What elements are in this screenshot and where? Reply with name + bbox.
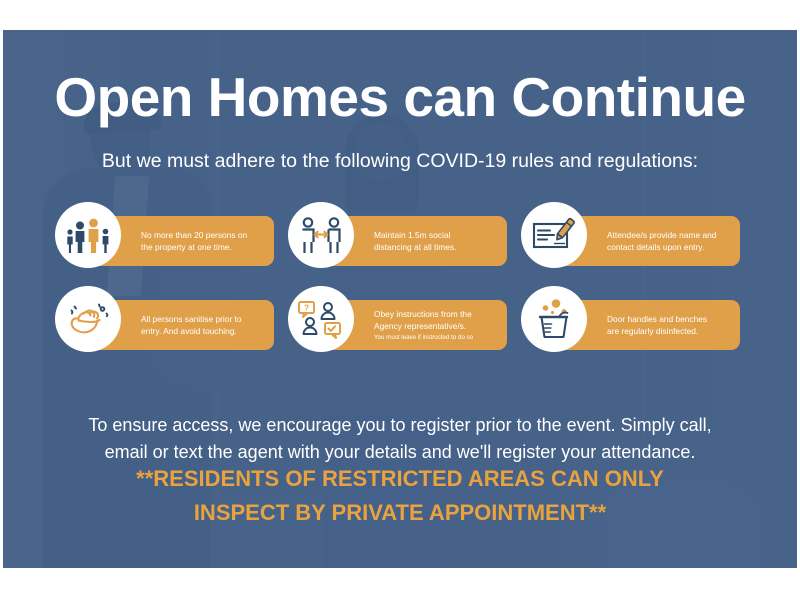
rule-text-line2: Agency representative/s. [374, 320, 497, 332]
svg-text:?: ? [304, 303, 309, 313]
rule-card: All persons sanitise prior to entry. And… [55, 286, 288, 368]
rule-text-line2: entry. And avoid touching. [141, 325, 264, 337]
page-subtitle: But we must adhere to the following COVI… [3, 150, 797, 173]
rule-text-line1: Door handles and benches [607, 313, 730, 325]
form-pencil-icon [521, 202, 587, 268]
body-paragraph: To ensure access, we encourage you to re… [63, 412, 737, 466]
hand-sanitise-icon [55, 286, 121, 352]
rule-text-line2: the property at one time. [141, 241, 264, 253]
rule-text-line1: All persons sanitise prior to [141, 313, 264, 325]
family-group-icon [55, 202, 121, 268]
rule-card: Door handles and benches are regularly d… [521, 286, 754, 368]
rule-text-line2: contact details upon entry. [607, 241, 730, 253]
rule-text-line2: are regularly disinfected. [607, 325, 730, 337]
notice-line-1: **RESIDENTS OF RESTRICTED AREAS CAN ONLY [63, 462, 737, 496]
rule-subtext: You must leave if instructed to do so [374, 334, 497, 342]
rule-card: Attendee/s provide name and contact deta… [521, 202, 754, 284]
page-title: Open Homes can Continue [3, 70, 797, 125]
restricted-areas-notice: **RESIDENTS OF RESTRICTED AREAS CAN ONLY… [63, 462, 737, 530]
rule-card: No more than 20 persons on the property … [55, 202, 288, 284]
rule-card: Obey instructions from the Agency repres… [288, 286, 521, 368]
social-distancing-icon [288, 202, 354, 268]
rule-card: Maintain 1.5m social distancing at all t… [288, 202, 521, 284]
rule-text-line1: Attendee/s provide name and [607, 229, 730, 241]
notice-line-2: INSPECT BY PRIVATE APPOINTMENT** [63, 496, 737, 530]
rule-text-line1: No more than 20 persons on [141, 229, 264, 241]
rule-text-line1: Obey instructions from the [374, 308, 497, 320]
body-line-1: To ensure access, we encourage you to re… [63, 412, 737, 439]
poster-canvas: Open Homes can Continue But we must adhe… [3, 30, 797, 568]
obey-instructions-icon: ? [288, 286, 354, 352]
rule-text-line2: distancing at all times. [374, 241, 497, 253]
disinfect-bucket-icon [521, 286, 587, 352]
rules-grid: No more than 20 persons on the property … [55, 202, 755, 368]
rule-text-line1: Maintain 1.5m social [374, 229, 497, 241]
